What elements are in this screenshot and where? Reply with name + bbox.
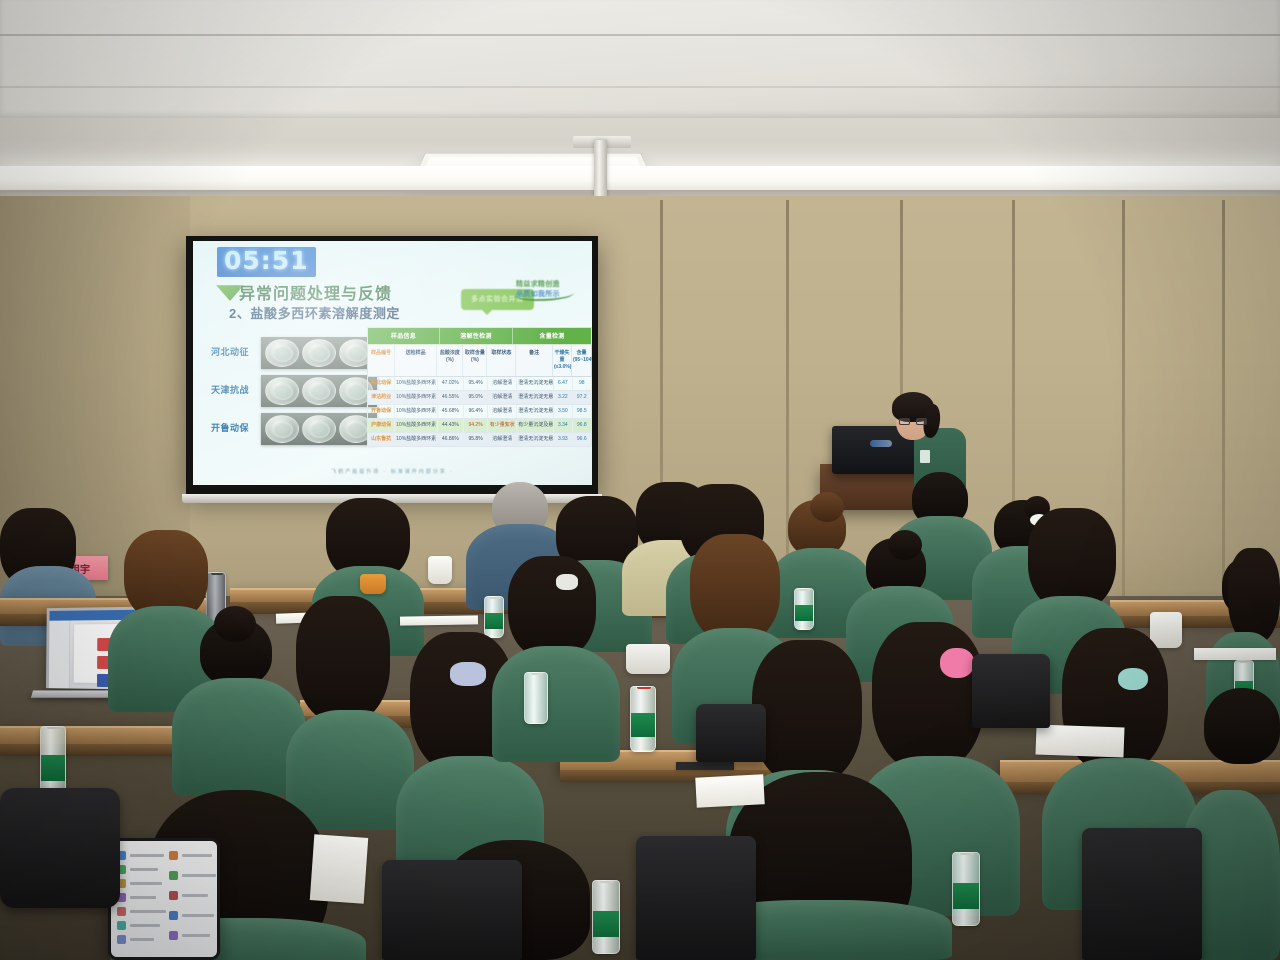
sample-row-label: 天津抗战	[211, 383, 249, 396]
cell-sample-name: 10%盐酸多西环素	[395, 377, 438, 390]
chat-line	[182, 874, 216, 877]
orange-cup	[360, 574, 386, 594]
attendee-head	[1204, 688, 1280, 764]
cell-sample-id: 庐康动保	[368, 419, 395, 432]
chat-avatar-icon	[169, 851, 178, 860]
chat-avatar-icon	[169, 931, 178, 940]
projection-screen-frame: 05:51 异常问题处理与反馈 2、盐酸多西环素溶解度测定 多点实验合并验 精益…	[186, 236, 598, 494]
cell-content: 98	[573, 377, 591, 390]
ceiling-seam	[0, 34, 1280, 36]
column-header: 样品编号	[368, 345, 395, 376]
countdown-timer: 05:51	[217, 247, 316, 277]
cell-sample-id: 冀北动保	[368, 377, 395, 390]
petri-dish-photo	[261, 337, 377, 369]
chat-avatar-icon	[117, 921, 126, 930]
attendee-hair	[752, 640, 862, 786]
table-row: 开鲁动保 10%盐酸多西环素 45.68% 96.4% 溶解澄清 澄清无沉淀无悬…	[367, 405, 592, 419]
chat-line	[182, 934, 210, 937]
cell-sample-name: 10%盐酸多西环素	[395, 391, 438, 404]
chat-line	[130, 924, 160, 927]
cell-loss: 3.34	[554, 419, 572, 432]
slide-data-table: 样品信息 溶解性检测 含量检测 样品编号 送检样品 盐酸浓度 (%) 取样含量 …	[367, 327, 592, 447]
group-header-cell: 样品信息	[368, 328, 440, 344]
attendee-hair	[296, 596, 390, 724]
slide-title: 异常问题处理与反馈	[239, 280, 392, 304]
cell-content: 96.6	[573, 433, 591, 446]
projected-slide: 05:51 异常问题处理与反馈 2、盐酸多西环素溶解度测定 多点实验合并验 精益…	[193, 241, 592, 485]
column-header: 取样状态	[487, 345, 516, 376]
cell-conc: 46.55%	[438, 391, 464, 404]
company-logo: 精益求精创造 品质如我所示	[516, 279, 578, 303]
chat-avatar-icon	[117, 907, 126, 916]
table-header-row: 样品编号 送检样品 盐酸浓度 (%) 取样含量 (%) 取样状态 备注 干燥失重…	[367, 345, 592, 377]
chair	[636, 836, 756, 960]
slide-subtitle: 2、盐酸多西环素溶解度测定	[229, 303, 400, 322]
presenter-name-badge	[920, 450, 930, 463]
cell-loss: 3.50	[554, 405, 572, 418]
notebook	[310, 834, 368, 904]
chat-line	[130, 896, 156, 899]
cell-sample-name: 10%盐酸多西环素	[395, 405, 438, 418]
column-header: 干燥失重 (≤3.0%)	[553, 345, 572, 376]
chat-avatar-icon	[169, 891, 178, 900]
sample-row-label: 河北动征	[211, 345, 249, 358]
water-bottle	[484, 596, 504, 638]
table-row: 山东鲁抗 10%盐酸多西环素 46.86% 95.8% 溶解澄清 澄清无沉淀无悬…	[367, 433, 592, 447]
ceiling-seam	[0, 86, 1280, 88]
wall-panel-seam	[1122, 200, 1125, 600]
cell-loss: 3.93	[554, 433, 572, 446]
attendee-hair	[508, 556, 596, 660]
cell-sample-id: 开鲁动保	[368, 405, 395, 418]
table-group-header-row: 样品信息 溶解性检测 含量检测	[367, 327, 592, 345]
cell-sample-name: 10%盐酸多西环素	[395, 419, 438, 432]
table-row: 津沽药业 10%盐酸多西环素 46.55% 95.0% 溶解澄清 澄清无沉淀无悬…	[367, 391, 592, 405]
notebook	[695, 774, 764, 808]
cell-conc: 45.68%	[438, 405, 464, 418]
column-header: 盐酸浓度 (%)	[437, 345, 463, 376]
cell-sample-name: 10%盐酸多西环素	[395, 433, 438, 446]
food-container	[626, 644, 670, 674]
attendee-hair	[872, 622, 984, 772]
water-bottle	[40, 726, 66, 796]
chair	[0, 788, 120, 908]
cell-state: 溶解澄清	[488, 405, 517, 418]
cell-assay: 95.4%	[464, 377, 488, 390]
cell-note: 澄清无沉淀无悬浮	[517, 377, 554, 390]
cell-note: 有少量沉淀及悬浮物	[517, 419, 554, 432]
attendee-torso	[286, 710, 414, 830]
cell-loss: 3.22	[554, 391, 572, 404]
chat-line	[130, 882, 162, 885]
logo-line-2: 品质如我所示	[516, 289, 560, 299]
water-bottle	[952, 852, 980, 926]
cell-state: 溶解澄清	[488, 391, 517, 404]
sample-row-label: 开鲁动保	[211, 421, 249, 434]
tea-cup	[428, 556, 452, 584]
water-bottle	[524, 672, 548, 724]
attendee-torso	[492, 646, 620, 762]
hair-clip	[940, 648, 974, 678]
cell-conc: 46.86%	[438, 433, 464, 446]
cell-note: 澄清无沉淀无悬浮	[517, 405, 554, 418]
cell-assay: 95.0%	[464, 391, 488, 404]
group-header-cell: 溶解性检测	[440, 328, 513, 344]
smartphone[interactable]	[676, 762, 734, 770]
laptop-sidebar	[49, 621, 71, 689]
notebook	[400, 615, 478, 625]
table-row: 冀北动保 10%盐酸多西环素 47.02% 95.4% 溶解澄清 澄清无沉淀无悬…	[367, 377, 592, 391]
chat-line	[130, 868, 158, 871]
notebook	[1036, 724, 1125, 757]
attendee-hair	[1228, 548, 1280, 644]
cell-note: 澄清无沉淀无悬浮	[517, 391, 554, 404]
ceiling-slab	[0, 0, 1280, 118]
cell-sample-id: 山东鲁抗	[368, 433, 395, 446]
chat-avatar-icon	[117, 935, 126, 944]
chat-line	[130, 910, 166, 913]
column-header: 含量 (95~104%)	[572, 345, 591, 376]
cell-state: 溶解澄清	[488, 433, 517, 446]
attendee-hair-bun	[214, 606, 256, 642]
notebook	[1194, 648, 1276, 660]
chat-avatar-icon	[169, 911, 178, 920]
hair-tie	[450, 662, 486, 686]
chair	[696, 704, 766, 762]
water-bottle	[592, 880, 620, 954]
table-row-highlighted: 庐康动保 10%盐酸多西环素 44.43% 94.2% 有少量絮状 有少量沉淀及…	[367, 419, 592, 433]
attendee-hair-bun	[810, 492, 844, 522]
water-bottle	[794, 588, 814, 630]
chat-line	[130, 938, 154, 941]
cell-content: 96.8	[573, 419, 591, 432]
cell-sample-id: 津沽药业	[368, 391, 395, 404]
monitor-logo-icon	[870, 440, 892, 447]
cove-lighting	[0, 166, 1280, 192]
attendee-phone[interactable]	[108, 838, 220, 960]
cell-content: 98.5	[573, 405, 591, 418]
water-bottle	[630, 686, 656, 752]
cell-conc: 44.43%	[438, 419, 464, 432]
cell-note: 澄清无沉淀无悬浮	[517, 433, 554, 446]
group-header-cell: 含量检测	[513, 328, 591, 344]
chat-line	[182, 914, 214, 917]
cell-state: 溶解澄清	[488, 377, 517, 390]
petri-dish-photo	[261, 375, 377, 407]
chair	[382, 860, 522, 960]
chat-line	[182, 854, 212, 857]
column-header: 取样含量 (%)	[463, 345, 487, 376]
conference-room-photo: 05:51 异常问题处理与反馈 2、盐酸多西环素溶解度测定 多点实验合并验 精益…	[0, 0, 1280, 960]
cell-assay: 95.8%	[464, 433, 488, 446]
cell-loss: 6.47	[554, 377, 572, 390]
column-header: 备注	[516, 345, 553, 376]
slide-footer: 飞鹤产能提升场 · 标准课件内部分享 ·	[193, 468, 592, 475]
cell-state: 有少量絮状	[488, 419, 517, 432]
cell-content: 97.2	[573, 391, 591, 404]
chair	[972, 654, 1050, 728]
cell-conc: 47.02%	[438, 377, 464, 390]
hair-tie	[1118, 668, 1148, 690]
paper-cup	[1150, 612, 1182, 648]
cell-assay: 96.4%	[464, 405, 488, 418]
chat-line	[182, 894, 208, 897]
chair	[1082, 828, 1202, 960]
wall-panel-seam	[1222, 200, 1225, 610]
petri-dish-photo	[261, 413, 377, 445]
chat-line	[130, 854, 164, 857]
cell-assay: 94.2%	[464, 419, 488, 432]
hair-clip	[556, 574, 578, 590]
attendee-hair-bun	[888, 530, 922, 560]
timer-value: 05:51	[224, 246, 309, 275]
presenter-glasses-icon	[899, 418, 927, 425]
chat-avatar-icon	[169, 871, 178, 880]
column-header: 送检样品	[395, 345, 437, 376]
